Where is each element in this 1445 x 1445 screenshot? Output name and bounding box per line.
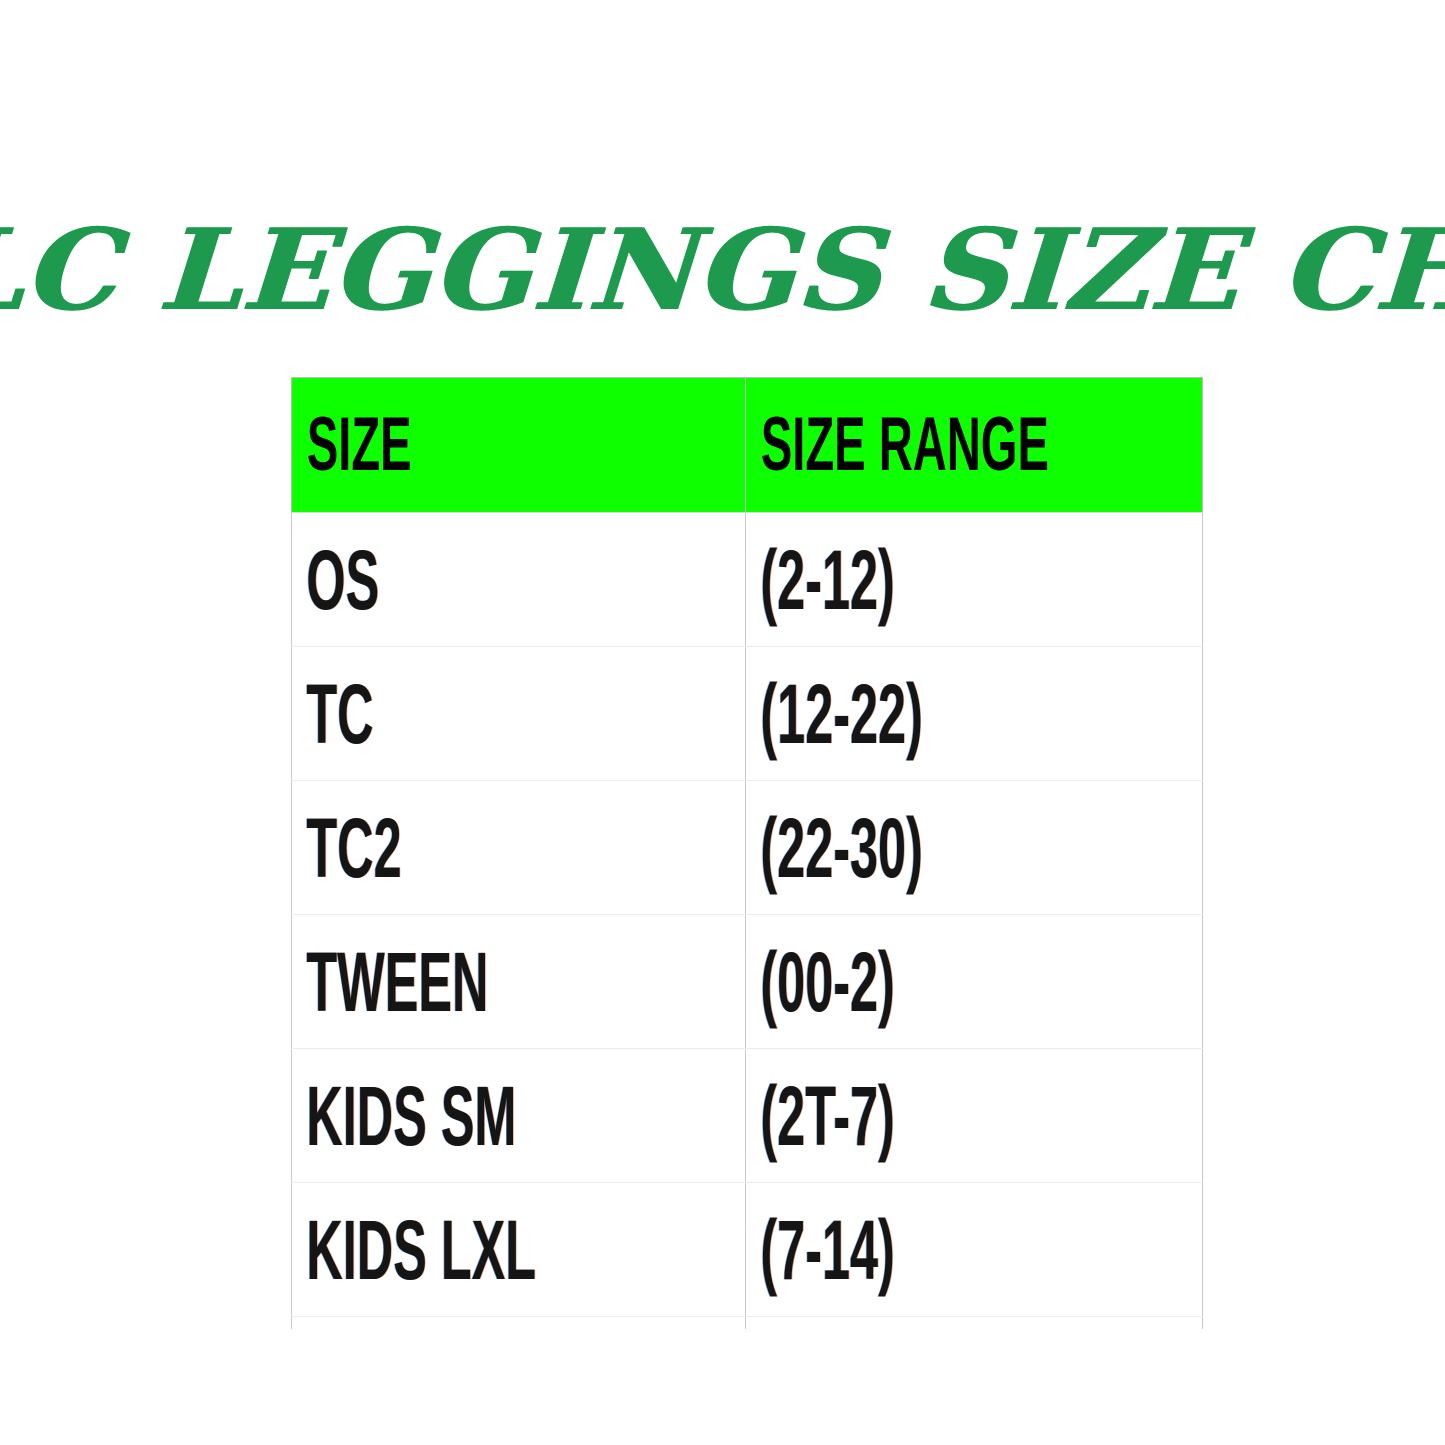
cell-size-label: TC — [292, 672, 564, 756]
cell-size: TC2 — [292, 781, 746, 915]
column-header-size-range: SIZE RANGE — [746, 378, 1203, 513]
cell-size: TWEEN — [292, 915, 746, 1049]
cell-size-range-label: (7-14) — [746, 1208, 1020, 1292]
column-header-size-range-label: SIZE RANGE — [746, 407, 1029, 483]
table-row-stub — [292, 1317, 1203, 1330]
cell-size: KIDS SM — [292, 1049, 746, 1183]
cell-size-label: TWEEN — [292, 940, 564, 1024]
table-row: TC2(22-30) — [292, 781, 1203, 915]
cell-size-label: OS — [292, 538, 564, 622]
cell-size-range: (2T-7) — [746, 1049, 1203, 1183]
page-title-container: GCLLC LEGGINGS SIZE CHART — [0, 196, 1445, 346]
cell-size-range-label: (12-22) — [746, 672, 1020, 756]
cell-size: OS — [292, 513, 746, 647]
page-title: GCLLC LEGGINGS SIZE CHART — [0, 215, 1445, 327]
cell-size-range-label: (00-2) — [746, 940, 1020, 1024]
table-row: KIDS LXL(7-14) — [292, 1183, 1203, 1317]
cell-stub-size — [292, 1317, 746, 1330]
cell-size: KIDS LXL — [292, 1183, 746, 1317]
cell-size-range: (2-12) — [746, 513, 1203, 647]
table-header-row: SIZE SIZE RANGE — [292, 378, 1203, 513]
cell-size-range-label: (22-30) — [746, 806, 1020, 890]
table-header: SIZE SIZE RANGE — [292, 378, 1203, 513]
cell-size-label: TC2 — [292, 806, 564, 890]
table-row: TWEEN(00-2) — [292, 915, 1203, 1049]
cell-size-label: KIDS SM — [292, 1074, 564, 1158]
cell-size-range: (12-22) — [746, 647, 1203, 781]
cell-size-label: KIDS LXL — [292, 1208, 564, 1292]
table-row: TC(12-22) — [292, 647, 1203, 781]
table-body: OS(2-12)TC(12-22)TC2(22-30)TWEEN(00-2)KI… — [292, 513, 1203, 1330]
column-header-size-label: SIZE — [292, 407, 573, 483]
cell-size-range-label: (2T-7) — [746, 1074, 1020, 1158]
cell-size-range: (7-14) — [746, 1183, 1203, 1317]
cell-size-range-label: (2-12) — [746, 538, 1020, 622]
cell-size-range: (00-2) — [746, 915, 1203, 1049]
size-chart-page: GCLLC LEGGINGS SIZE CHART SIZE SIZE RANG… — [0, 0, 1445, 1445]
leggings-size-table: SIZE SIZE RANGE OS(2-12)TC(12-22)TC2(22-… — [291, 377, 1203, 1329]
table-row: OS(2-12) — [292, 513, 1203, 647]
cell-size: TC — [292, 647, 746, 781]
cell-size-range: (22-30) — [746, 781, 1203, 915]
column-header-size: SIZE — [292, 378, 746, 513]
cell-stub-size-range — [746, 1317, 1203, 1330]
table-row: KIDS SM(2T-7) — [292, 1049, 1203, 1183]
